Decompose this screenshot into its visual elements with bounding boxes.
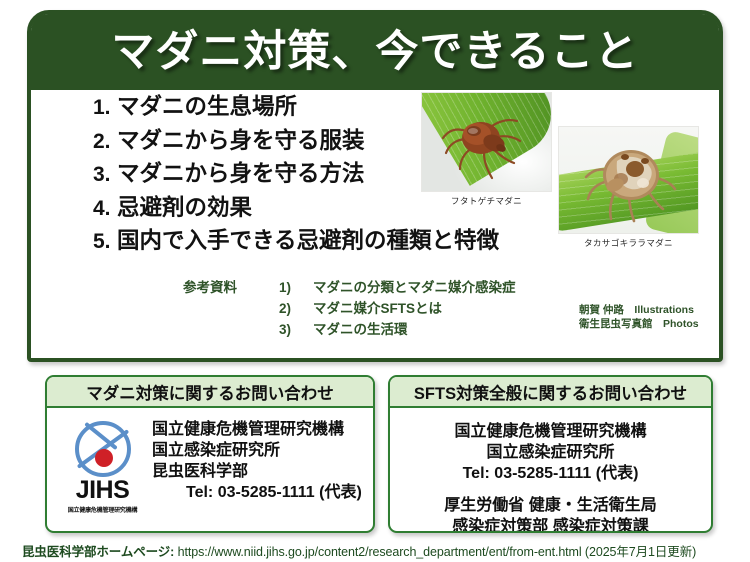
poster-title-bar: マダニ対策、今できること xyxy=(31,14,719,90)
credits-block: 朝賀 仲路 Illustrations 衛生昆虫写真館 Photos xyxy=(579,303,699,331)
contact-box-tick-measures: マダニ対策に関するお問い合わせ JIHS 国立健康危機管理研究機構 国立健康危機… xyxy=(45,375,375,533)
reference-item-2-number: 2) xyxy=(279,299,313,320)
page-title: マダニ対策、今できること xyxy=(111,31,638,74)
contact-left-line-2: 国立感染症研究所 xyxy=(152,440,365,461)
jihs-wordmark: JIHS xyxy=(76,478,130,503)
reference-item-2-label: マダニ媒介SFTSとは xyxy=(313,299,442,320)
credit-line-2: 衛生昆虫写真館 Photos xyxy=(579,317,699,331)
jihs-subtitle: 国立健康危機管理研究機構 xyxy=(68,505,138,514)
reference-item-3-label: マダニの生活環 xyxy=(313,320,408,341)
contact-box-tick-measures-header: マダニ対策に関するお問い合わせ xyxy=(47,377,373,408)
agenda-item-5-label: 国内で入手できる忌避剤の種類と特徴 xyxy=(117,230,499,253)
footer-updated: (2025年7月1日更新) xyxy=(585,545,696,559)
contact-left-phone: Tel: 03-5285-1111 (代表) xyxy=(152,482,365,503)
footer-label: 昆虫医科学部ホームページ: xyxy=(22,545,174,559)
reference-item-3: 3) マダニの生活環 xyxy=(279,320,516,341)
contact-right-phone-1: Tel: 03-5285-1111 (代表) xyxy=(398,463,703,484)
tick-photo-2: タカサゴキララマダニ xyxy=(558,126,699,249)
tick-photo-1: フタトゲチマダニ xyxy=(421,92,552,207)
references-list: 1) マダニの分類とマダニ媒介感染症 2) マダニ媒介SFTSとは 3) マダニ… xyxy=(279,278,516,341)
agenda-item-1-number: 1. xyxy=(93,97,117,118)
jihs-logo: JIHS 国立健康危機管理研究機構 xyxy=(55,417,150,533)
agenda-item-1-label: マダニの生息場所 xyxy=(117,96,297,119)
agenda-item-4-number: 4. xyxy=(93,198,117,219)
agenda-item-4-label: 忌避剤の効果 xyxy=(117,197,252,220)
agenda-item-5: 5. 国内で入手できる忌避剤の種類と特徴 xyxy=(93,230,523,253)
tick-photo-2-caption: タカサゴキララマダニ xyxy=(558,237,699,249)
agenda-item-5-number: 5. xyxy=(93,231,117,252)
contact-right-line-1: 国立健康危機管理研究機構 xyxy=(398,421,703,442)
reference-item-2: 2) マダニ媒介SFTSとは xyxy=(279,299,516,320)
footer-url[interactable]: https://www.niid.jihs.go.jp/content2/res… xyxy=(178,545,582,559)
jihs-circle-mark-icon xyxy=(75,421,131,477)
agenda-item-2-number: 2. xyxy=(93,131,117,152)
references-heading: 参考資料 xyxy=(183,278,279,341)
reference-item-1-label: マダニの分類とマダニ媒介感染症 xyxy=(313,278,516,299)
contact-right-line-4: 厚生労働省 健康・生活衛生局 xyxy=(398,495,703,516)
credit-line-1: 朝賀 仲路 Illustrations xyxy=(579,303,699,317)
tick-photo-2-image xyxy=(558,126,699,234)
poster-body: 1. マダニの生息場所 2. マダニから身を守る服装 3. マダニから身を守る方… xyxy=(31,90,719,358)
contact-box-sfts-measures-header: SFTS対策全般に関するお問い合わせ xyxy=(390,377,711,408)
reference-item-1-number: 1) xyxy=(279,278,313,299)
contact-left-line-1: 国立健康危機管理研究機構 xyxy=(152,419,365,440)
reference-item-3-number: 3) xyxy=(279,320,313,341)
contact-right-line-2: 国立感染症研究所 xyxy=(398,442,703,463)
tick-photo-1-image xyxy=(421,92,552,192)
contact-box-sfts-measures-body: 国立健康危機管理研究機構 国立感染症研究所 Tel: 03-5285-1111 … xyxy=(390,408,711,533)
contact-box-tick-measures-body: JIHS 国立健康危機管理研究機構 国立健康危機管理研究機構 国立感染症研究所 … xyxy=(47,408,373,533)
contact-left-line-3: 昆虫医科学部 xyxy=(152,461,365,482)
footer-homepage-line: 昆虫医科学部ホームページ: https://www.niid.jihs.go.j… xyxy=(22,541,696,560)
agenda-item-2-label: マダニから身を守る服装 xyxy=(117,130,365,153)
contact-box-sfts-measures-lines: 国立健康危機管理研究機構 国立感染症研究所 Tel: 03-5285-1111 … xyxy=(398,417,703,533)
tick-photo-1-caption: フタトゲチマダニ xyxy=(421,195,552,207)
agenda-item-3-label: マダニから身を守る方法 xyxy=(117,163,365,186)
contact-box-sfts-measures: SFTS対策全般に関するお問い合わせ 国立健康危機管理研究機構 国立感染症研究所… xyxy=(388,375,713,533)
agenda-item-3-number: 3. xyxy=(93,164,117,185)
references-block: 参考資料 1) マダニの分類とマダニ媒介感染症 2) マダニ媒介SFTSとは 3… xyxy=(183,278,516,341)
reference-item-1: 1) マダニの分類とマダニ媒介感染症 xyxy=(279,278,516,299)
poster-panel: マダニ対策、今できること 1. マダニの生息場所 2. マダニから身を守る服装 … xyxy=(27,10,723,362)
contact-box-tick-measures-lines: 国立健康危機管理研究機構 国立感染症研究所 昆虫医科学部 Tel: 03-528… xyxy=(150,417,365,533)
contact-right-line-5: 感染症対策部 感染症対策課 xyxy=(398,516,703,533)
